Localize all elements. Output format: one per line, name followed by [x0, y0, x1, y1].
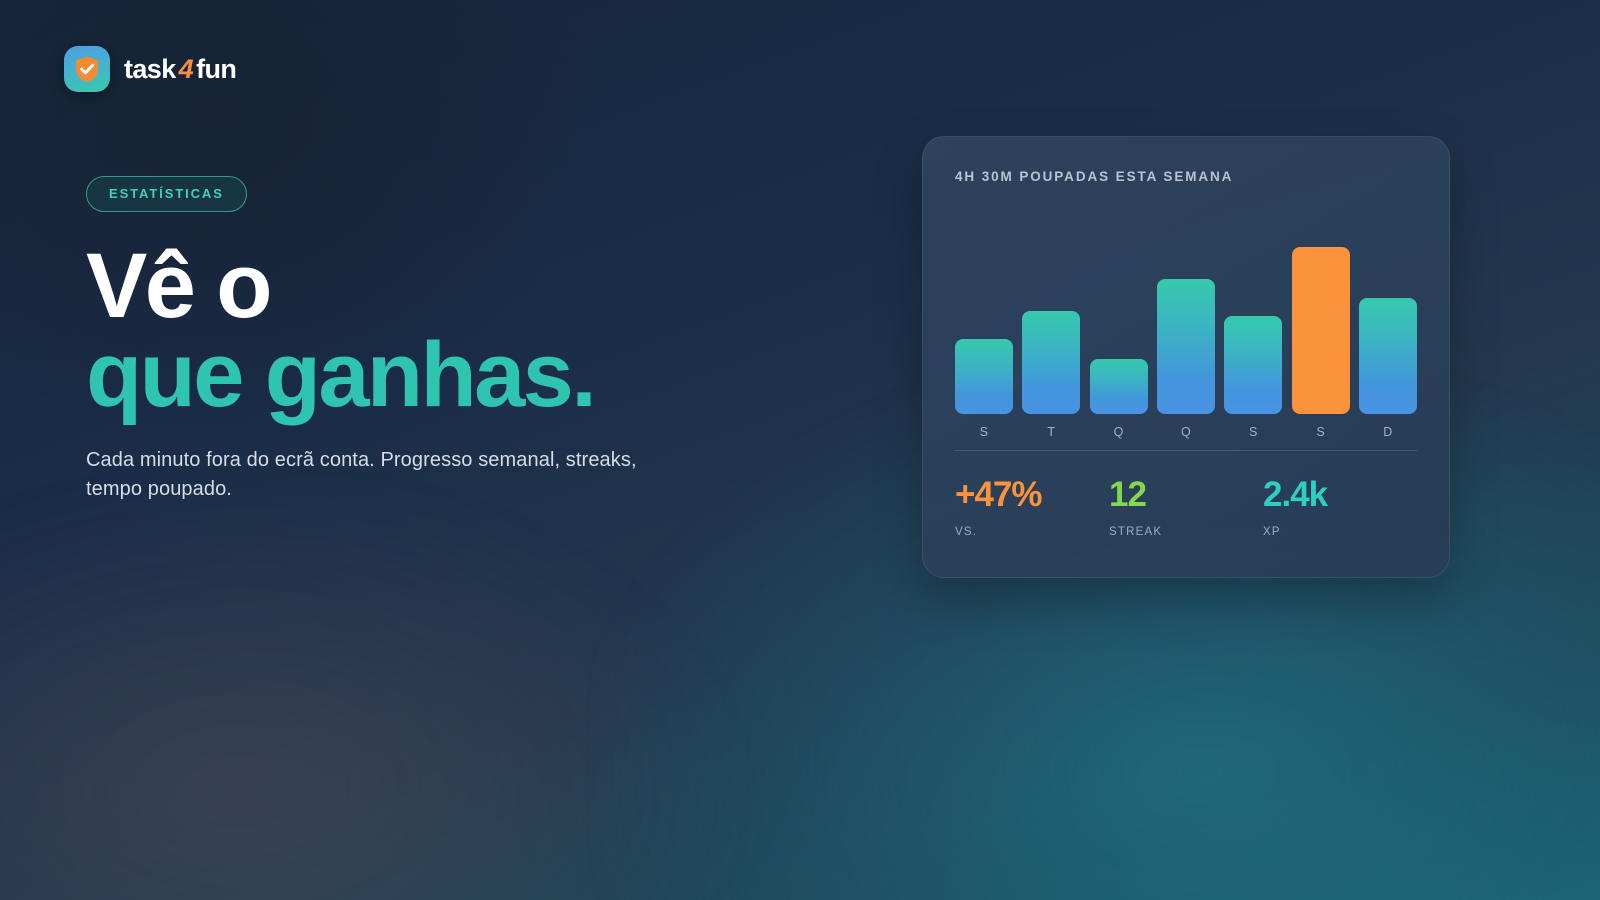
bar-column[interactable] [1359, 298, 1417, 414]
stat-value: +47% [955, 477, 1109, 512]
bar-label: T [1022, 425, 1080, 439]
brand-word-number: 4 [176, 54, 196, 84]
section-badge: ESTATÍSTICAS [86, 176, 247, 212]
stat-item: +47%VS. [955, 477, 1109, 538]
bar-label: Q [1090, 425, 1148, 439]
card-title: 4H 30M POUPADAS ESTA SEMANA [955, 169, 1417, 184]
brand-logo[interactable]: task4fun [64, 46, 236, 92]
bar-label: S [1224, 425, 1282, 439]
stat-value: 2.4k [1263, 477, 1417, 512]
brand-word-fun: fun [196, 54, 236, 84]
bar-chart-bars [955, 236, 1417, 414]
bar-label: D [1359, 425, 1417, 439]
bar[interactable] [1224, 316, 1282, 414]
bar-column[interactable] [1224, 316, 1282, 414]
bar-label: S [1292, 425, 1350, 439]
bar[interactable] [955, 339, 1013, 414]
stat-value: 12 [1109, 477, 1263, 512]
stat-item: 2.4kXP [1263, 477, 1417, 538]
bar-label: S [955, 425, 1013, 439]
headline-line-1: Vê o [86, 242, 746, 331]
bar-column[interactable] [1090, 359, 1148, 414]
brand-wordmark: task4fun [124, 54, 236, 85]
stat-label: XP [1263, 526, 1417, 538]
bar[interactable] [1090, 359, 1148, 414]
brand-word-task: task [124, 54, 176, 84]
stat-item: 12STREAK [1109, 477, 1263, 538]
stats-row: +47%VS.12STREAK2.4kXP [955, 477, 1417, 538]
headline-line-2: que ganhas. [86, 331, 746, 420]
stat-label: STREAK [1109, 526, 1263, 538]
weekly-stats-card: 4H 30M POUPADAS ESTA SEMANA STQQSSD +47%… [922, 136, 1450, 578]
weekly-bar-chart: STQQSSD [955, 206, 1417, 444]
hero-subtitle: Cada minuto fora do ecrã conta. Progress… [86, 446, 676, 504]
bar[interactable] [1359, 298, 1417, 414]
bar-column[interactable] [1157, 279, 1215, 414]
bar[interactable] [1157, 279, 1215, 414]
bar-column[interactable] [1022, 311, 1080, 414]
bar-label: Q [1157, 425, 1215, 439]
bar-column[interactable] [955, 339, 1013, 414]
stat-label: VS. [955, 526, 1109, 538]
hero-content: ESTATÍSTICAS Vê o que ganhas. Cada minut… [86, 176, 746, 504]
bar-chart-labels: STQQSSD [955, 420, 1417, 444]
card-divider [955, 450, 1417, 451]
bar[interactable] [1022, 311, 1080, 414]
page-title: Vê o que ganhas. [86, 242, 746, 420]
bar-column[interactable] [1292, 247, 1350, 414]
bar-highlighted[interactable] [1292, 247, 1350, 414]
shield-check-icon [64, 46, 110, 92]
